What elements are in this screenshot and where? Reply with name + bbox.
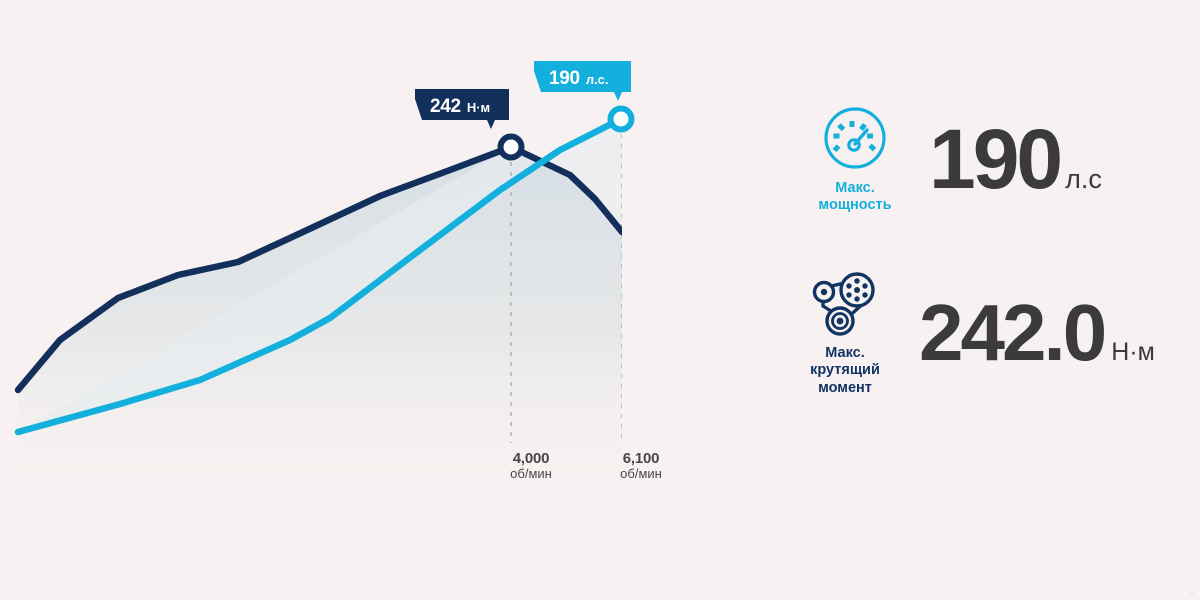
pulley-belt-icon [809,268,881,336]
stats-panel: Макс. мощность 190 л.с [760,0,1200,600]
torque-peak-marker [501,137,522,158]
x-tick-6100-unit: об/мин [586,467,696,482]
torque-value-badge: 242 Н·м [415,89,509,129]
stat-max-torque: Макс. крутящий момент 242.0 Н·м [785,268,1155,397]
power-caption-line1: Макс. [818,180,891,197]
performance-chart: 242 Н·м 190 л.с. 4,000 об/мин 6,100 об/м… [0,0,700,600]
power-value-block: 190 л.с [929,120,1102,200]
corner-mark: ▵ [1189,587,1194,598]
power-peak-marker [611,109,632,130]
power-caption: Макс. мощность [818,180,891,215]
torque-icon-block: Макс. крутящий момент [785,268,905,397]
torque-value: 242.0 [919,295,1104,371]
torque-value-block: 242.0 Н·м [919,295,1155,371]
x-tick-6100: 6,100 об/мин [586,450,696,482]
x-tick-6100-value: 6,100 [586,450,696,467]
power-value: 190 [929,120,1060,200]
power-badge-unit: л.с. [586,72,609,87]
infographic-root: 242 Н·м 190 л.с. 4,000 об/мин 6,100 об/м… [0,0,1200,600]
badge-content: 190 л.с. [534,61,623,98]
torque-caption-line3: момент [810,380,880,397]
x-tick-4000-value: 4,000 [476,450,586,467]
power-badge-value: 190 [549,68,580,90]
badge-content: 242 Н·м [415,89,504,126]
stat-max-power: Макс. мощность 190 л.с [795,105,1102,215]
x-tick-4000: 4,000 об/мин [476,450,586,482]
torque-unit: Н·м [1111,338,1155,367]
torque-badge-value: 242 [430,96,461,118]
power-unit: л.с [1065,164,1102,195]
torque-badge-unit: Н·м [467,100,490,115]
power-caption-line2: мощность [818,197,891,214]
x-tick-4000-unit: об/мин [476,467,586,482]
torque-caption-line2: крутящий [810,362,880,379]
power-icon-block: Макс. мощность [795,105,915,215]
torque-caption: Макс. крутящий момент [810,345,880,397]
power-value-badge: 190 л.с. [534,61,631,101]
torque-caption-line1: Макс. [810,345,880,362]
gauge-icon [822,105,888,171]
